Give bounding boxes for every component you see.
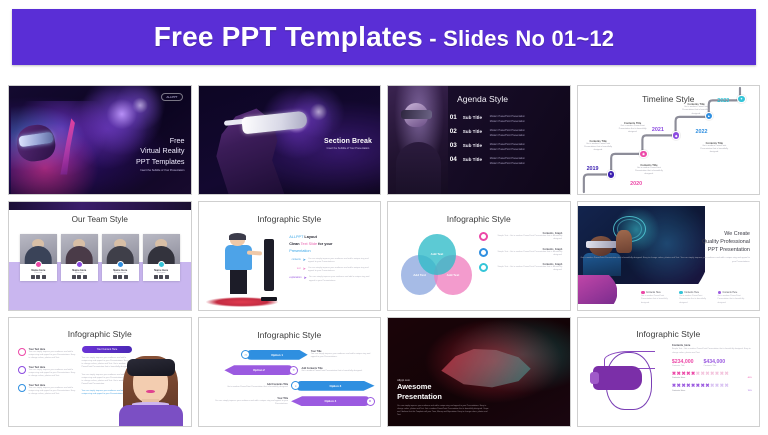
gear-icon: ⚙ <box>366 397 375 406</box>
page-title: Free PPT Templates - Slides No 01~12 <box>154 21 615 53</box>
left-item: Your Text Here You can simply impress yo… <box>18 348 76 360</box>
team-card[interactable]: Name Here Manager <box>61 234 98 281</box>
hero-paragraph: Get a modern PowerPoint Presentation tha… <box>578 257 750 264</box>
legend-desc: Simple Text - Get a modern PowerPoint Pr… <box>491 235 563 241</box>
legend-ring-icon <box>479 263 488 272</box>
pink-accent-shape <box>578 275 618 303</box>
agenda-row: 03 Sub Title Modern PowerPoint Presentat… <box>450 142 565 152</box>
member-photo <box>20 234 57 264</box>
column-desc: Get a modern PowerPoint Presentation tha… <box>679 295 713 304</box>
venn-title: Infographic Style <box>388 214 570 224</box>
member-badge-icon <box>117 261 124 268</box>
headline-text-slide: Text Slide <box>301 242 317 246</box>
agenda-row: 01 Sub Title Modern PowerPoint Presentat… <box>450 114 565 124</box>
rocket-icon: ✈ <box>289 366 298 375</box>
bar-pct: 40% <box>748 377 752 379</box>
column-desc: Get a modern PowerPoint Presentation tha… <box>718 295 752 304</box>
ring-icon <box>18 366 26 374</box>
headline: ALLPPT Layout Clean Text Slide for your … <box>289 234 371 254</box>
twitter-icon[interactable] <box>159 275 163 279</box>
legend-row: Contents_Graph Simple Text - Get a moder… <box>479 232 563 241</box>
team-cards: Name Here Director Name Here Manager <box>20 234 180 281</box>
timeline-block-2022: Contents Title Get a modern PowerPoint P… <box>697 142 731 154</box>
cover-title-line3: PPT Templates <box>136 157 184 167</box>
chevron-rows: ▭ Option 1 Your Title You can simply imp… <box>204 348 375 410</box>
slide-thumbnail-03[interactable]: Agenda Style 01 Sub Title Modern PowerPo… <box>387 85 571 195</box>
legend-row: Contents_Graph Simple Text - Get a moder… <box>479 263 563 272</box>
infographic-item: text ➤ You can simply impress your audie… <box>289 267 371 273</box>
stat: $434,000 Contents Title <box>704 359 726 367</box>
item-label: explanation <box>289 276 301 279</box>
agenda-bullet: Modern PowerPoint Presentation <box>490 119 525 124</box>
legend-desc: Simple Text - Get a modern PowerPoint Pr… <box>491 266 563 272</box>
agenda-list: 01 Sub Title Modern PowerPoint Presentat… <box>450 114 565 171</box>
linkedin-icon[interactable] <box>165 275 169 279</box>
item-desc: You can simply impress your audience and… <box>29 351 77 360</box>
stat-value: $434,000 <box>704 359 726 365</box>
infographic-text-block: ALLPPT Layout Clean Text Slide for your … <box>289 234 371 282</box>
timeline-node-2023: ✦ <box>737 95 746 104</box>
timeline-year-2020: 2020 <box>630 181 642 187</box>
twitter-icon[interactable] <box>118 275 122 279</box>
slide-thumbnail-05[interactable]: Our Team Style Name Here Director Name H… <box>8 201 192 311</box>
member-role: Director <box>20 272 57 274</box>
hero-title-line1: We Create <box>578 230 750 238</box>
left-item: Your Text Here You can simply impress yo… <box>18 366 76 378</box>
facebook-icon[interactable] <box>113 275 117 279</box>
slide-thumbnail-02[interactable]: Section Break Insert the Subtitle of You… <box>198 85 382 195</box>
timeline-block-2019: Contents Title Get a modern PowerPoint P… <box>581 140 615 152</box>
chevron-row: Option 2 ✈ Add Contents Title Get a mode… <box>204 364 375 377</box>
hero-text-block: We Create Quality Professional PPT Prese… <box>578 230 750 264</box>
agenda-row: 04 Sub Title Modern PowerPoint Presentat… <box>450 156 565 166</box>
member-role: Manager <box>61 272 98 274</box>
agenda-bullet: Modern PowerPoint Presentation <box>490 114 525 119</box>
linkedin-icon[interactable] <box>83 275 87 279</box>
screen-panel <box>264 239 274 291</box>
timeline-desc: Get a modern PowerPoint Presentation tha… <box>632 167 666 176</box>
infographic-title: Infographic Style <box>9 329 191 339</box>
member-badge-icon <box>76 261 83 268</box>
content-desc: Simple Text - Get a modern PowerPoint Pr… <box>672 348 752 354</box>
screen-stand <box>261 297 277 301</box>
section-break-block: Section Break Insert the Subtitle of You… <box>324 138 372 150</box>
awesome-text-block: Allppt.com Awesome Presentation You can … <box>397 378 489 417</box>
stat-label: Contents Title <box>704 365 726 367</box>
hero-title-line2: Quality Professional <box>578 238 750 246</box>
person-hair <box>229 233 246 240</box>
slide-thumbnail-06[interactable]: Infographic Style ALLPPT Layout Clean <box>198 201 382 311</box>
legend-ring-icon <box>479 248 488 257</box>
banner-sub-text: - Slides No 01~12 <box>423 26 614 51</box>
social-icons[interactable] <box>20 275 57 279</box>
person-body <box>225 245 252 269</box>
agenda-number: 04 <box>450 156 463 163</box>
team-card[interactable]: Name Here Designer <box>143 234 180 281</box>
agenda-subtitle: Sub Title <box>463 128 490 134</box>
chevron-label: Option 1 <box>246 353 307 357</box>
social-icons[interactable] <box>102 275 139 279</box>
lens <box>590 372 600 384</box>
bar-track: ✖✖✖✖✖ ✖✖✖✖✖ ✖✖ <box>672 371 752 377</box>
slide-thumbnail-10[interactable]: Infographic Style ▭ Option 1 Your Title … <box>198 317 382 427</box>
timeline-node-2019: ★ <box>607 170 616 179</box>
slide-thumbnail-01[interactable]: ALLPPT Free Virtual Reality PPT Template… <box>8 85 192 195</box>
headline-clean: Clean <box>289 242 299 246</box>
stat: $234,000 Contents Title <box>672 359 694 367</box>
cover-title-line1: Free <box>136 136 184 146</box>
chevron-label: Option 3 <box>296 384 374 388</box>
vr-headset-icon <box>593 366 643 389</box>
timeline-desc: Get a modern PowerPoint Presentation tha… <box>679 106 713 115</box>
progress-bar-1: ✖✖✖✖✖ ✖✖✖✖✖ ✖✖ Contents Here 40% <box>672 371 752 380</box>
item-desc: You can simply impress your audience and… <box>29 387 77 396</box>
torso <box>119 405 183 426</box>
person-arm <box>247 250 262 255</box>
timeline-year-2022: 2022 <box>695 129 707 135</box>
linkedin-icon[interactable] <box>42 275 46 279</box>
progress-bar-2: ✖✖✖✖✖ ✖✖✖ ✖✖✖✖ Contents Here 70% <box>672 383 752 392</box>
hero-column: Contents Here Get a modern PowerPoint Pr… <box>679 291 713 305</box>
slides-grid: ALLPPT Free Virtual Reality PPT Template… <box>8 85 760 427</box>
item-desc: You can simply impress your audience and… <box>308 258 371 264</box>
woman-vr-illustration <box>114 350 187 426</box>
stat-value: $234,000 <box>672 359 694 365</box>
timeline-node-2020: ◉ <box>639 150 648 159</box>
chevron-shape: Option 1 <box>246 350 307 360</box>
arrow-icon: ➤ <box>303 258 306 262</box>
column-desc: Get a modern PowerPoint Presentation tha… <box>641 295 675 304</box>
facebook-icon[interactable] <box>72 275 76 279</box>
side-desc: Get a modern PowerPoint Presentation tha… <box>301 370 371 373</box>
member-photo <box>102 234 139 264</box>
item-desc: You can simply impress your audience and… <box>309 276 371 282</box>
top-photo-strip <box>9 202 191 210</box>
agenda-number: 02 <box>450 128 463 135</box>
venn-circle-top: Add Text <box>418 234 456 274</box>
awesome-paragraph: You can simply impress your audience and… <box>397 405 489 418</box>
agenda-bullet: Modern PowerPoint Presentation <box>490 161 525 166</box>
section-break-title: Section Break <box>324 138 372 145</box>
bar-track: ✖✖✖✖✖ ✖✖✖ ✖✖✖✖ <box>672 383 752 389</box>
facebook-icon[interactable] <box>154 275 158 279</box>
venn-diagram: Add Text Add Text Add Text <box>401 234 474 299</box>
timeline-year-2023: 2023 <box>717 98 729 104</box>
chevron-label: Option 2 <box>224 368 293 372</box>
slide-thumbnail-04[interactable]: Timeline Style ★ ◉ ◆ ▲ ✦ 2019 2020 2021 … <box>577 85 761 195</box>
agenda-bullet: Modern PowerPoint Presentation <box>490 128 525 133</box>
team-card[interactable]: Name Here Director <box>20 234 57 281</box>
legend-ring-icon <box>479 232 488 241</box>
left-item: Your Text Here You can simply impress yo… <box>18 384 76 396</box>
infographic-item: contents ➤ You can simply impress your a… <box>289 258 371 264</box>
ring-icon <box>18 384 26 392</box>
photo-body <box>396 142 440 194</box>
bullet-dot-icon <box>718 291 722 295</box>
agenda-bullet: Modern PowerPoint Presentation <box>490 147 525 152</box>
person-illustration <box>218 234 262 292</box>
infographic-title: Infographic Style <box>578 329 760 339</box>
chevron-row: Your Title You can simply impress your a… <box>204 395 375 408</box>
twitter-icon[interactable] <box>36 275 40 279</box>
vr-headset-icon <box>127 359 175 376</box>
timeline-year-2019: 2019 <box>587 166 599 172</box>
stat-values: $234,000 Contents Title $434,000 Content… <box>672 359 752 367</box>
timeline-desc: Get a modern PowerPoint Presentation tha… <box>616 125 650 134</box>
awesome-title-line2: Presentation <box>397 392 489 402</box>
chevron-row: Add Contents Title Get a modern PowerPoi… <box>204 379 375 392</box>
thumbnail-gallery-page: Free PPT Templates - Slides No 01~12 ALL… <box>0 0 768 435</box>
chevron-shape: Option 4 <box>291 396 369 406</box>
chevron-side-text: Add Contents Title Get a modern PowerPoi… <box>204 383 291 389</box>
side-desc: You can simply impress your audience and… <box>311 353 372 359</box>
cover-subtitle: Insert the Subtitle of Your Presentation <box>136 169 184 172</box>
vr-headset-illustration <box>587 348 667 417</box>
agenda-row: 02 Sub Title Modern PowerPoint Presentat… <box>450 128 565 138</box>
timeline-block-2021: Contents Title Get a modern PowerPoint P… <box>616 122 650 134</box>
arrow-icon: ➤ <box>303 276 306 280</box>
social-icons[interactable] <box>61 275 98 279</box>
legend-desc: Simple Text - Get a modern PowerPoint Pr… <box>491 251 563 257</box>
chevron-shape: Option 2 <box>224 365 293 375</box>
side-desc: Get a modern PowerPoint Presentation tha… <box>207 386 288 389</box>
left-items: Your Text Here You can simply impress yo… <box>18 348 76 401</box>
chevron-row: ▭ Option 1 Your Title You can simply imp… <box>204 348 375 361</box>
member-role: Designer <box>143 272 180 274</box>
timeline-block-2023: Contents Title Get a modern PowerPoint P… <box>679 103 713 115</box>
cover-title-line2: Virtual Reality <box>136 146 184 156</box>
page-banner: Free PPT Templates - Slides No 01~12 <box>12 9 756 65</box>
chevron-side-text: Your Title You can simply impress your a… <box>204 397 291 406</box>
member-role: Programmer <box>102 272 139 274</box>
stats-panel: Contents_Here Simple Text - Get a modern… <box>672 344 752 392</box>
slide-thumbnail-11[interactable]: Allppt.com Awesome Presentation You can … <box>387 317 571 427</box>
agenda-bullet: Modern PowerPoint Presentation <box>490 133 525 138</box>
column-title: Contents Here <box>723 292 738 294</box>
agenda-number: 03 <box>450 142 463 149</box>
stat-label: Contents Title <box>672 365 694 367</box>
member-badge-icon <box>35 261 42 268</box>
allppt-logo: ALLPPT <box>161 93 182 101</box>
headline-presentation: Presentation <box>289 249 310 253</box>
infographic-title: Infographic Style <box>199 214 381 224</box>
twitter-icon[interactable] <box>77 275 81 279</box>
agenda-bullet: Modern PowerPoint Presentation <box>490 142 525 147</box>
slide-thumbnail-09[interactable]: Infographic Style Your Text Here You can… <box>8 317 192 427</box>
team-title: Our Team Style <box>9 215 191 224</box>
headline-layout: Layout <box>304 235 316 239</box>
headline-allppt: ALLPPT <box>289 235 303 239</box>
linkedin-icon[interactable] <box>124 275 128 279</box>
hero-column: Contents Here Get a modern PowerPoint Pr… <box>718 291 752 305</box>
slide-thumbnail-08[interactable]: We Create Quality Professional PPT Prese… <box>577 201 761 311</box>
member-badge-icon <box>158 261 165 268</box>
agenda-title: Agenda Style <box>457 94 508 104</box>
content-title: Contents_Here <box>672 344 752 347</box>
chevron-label: Option 4 <box>291 399 369 403</box>
chevron-side-text: Add Contents Title Get a modern PowerPoi… <box>298 367 374 373</box>
infographic-title: Infographic Style <box>199 330 381 340</box>
person-legs <box>230 268 247 294</box>
agenda-number: 01 <box>450 114 463 121</box>
item-label: contents <box>289 258 300 261</box>
agenda-bullet: Modern PowerPoint Presentation <box>490 156 525 161</box>
legend-row: Contents_Graph Simple Text - Get a moder… <box>479 248 563 257</box>
bar-pct: 70% <box>748 390 752 392</box>
agenda-photo <box>388 86 448 194</box>
arrow-icon: ➤ <box>303 267 306 271</box>
item-desc: You can simply impress your audience and… <box>29 369 77 378</box>
chevron-side-text: Your Title You can simply impress your a… <box>308 350 375 359</box>
bullet-dot-icon <box>679 291 683 295</box>
facebook-icon[interactable] <box>31 275 35 279</box>
headline-for-your: for your <box>318 242 332 246</box>
column-title: Contents Here <box>684 292 699 294</box>
timeline-desc: Get a modern PowerPoint Presentation tha… <box>697 145 731 154</box>
member-photo <box>61 234 98 264</box>
section-break-subtitle: Insert the Subtitle of Your Presentation <box>324 147 372 150</box>
photo-vr-headset-icon <box>401 110 432 120</box>
team-card[interactable]: Name Here Programmer <box>102 234 139 281</box>
timeline-desc: Get a modern PowerPoint Presentation tha… <box>581 143 615 152</box>
timeline-year-2021: 2021 <box>652 127 664 133</box>
social-icons[interactable] <box>143 275 180 279</box>
agenda-subtitle: Sub Title <box>463 142 490 148</box>
hero-column: Contents Here Get a modern PowerPoint Pr… <box>641 291 675 305</box>
item-label: text <box>289 267 300 270</box>
side-desc: You can simply impress your audience and… <box>207 400 288 406</box>
venn-legend: Contents_Graph Simple Text - Get a moder… <box>479 232 563 278</box>
member-photo <box>143 234 180 264</box>
bar-label: Contents Here <box>672 390 685 392</box>
slide-thumbnail-12[interactable]: Infographic Style Contents_Here Simple T… <box>577 317 761 427</box>
slide-thumbnail-07[interactable]: Infographic Style Add Text Add Text Add … <box>387 201 571 311</box>
item-desc: You can simply impress your audience and… <box>308 267 371 273</box>
hero-title-line3: PPT Presentation <box>578 246 750 254</box>
bar-label: Contents Here <box>672 377 685 379</box>
timeline-block-2020: Contents Title Get a modern PowerPoint P… <box>632 164 666 176</box>
infographic-item: explanation ➤ You can simply impress you… <box>289 276 371 282</box>
agenda-subtitle: Sub Title <box>463 114 490 120</box>
column-title: Contents Here <box>646 292 661 294</box>
banner-main-text: Free PPT Templates <box>154 21 423 52</box>
hero-columns: Contents Here Get a modern PowerPoint Pr… <box>641 291 752 305</box>
bullet-dot-icon <box>641 291 645 295</box>
ring-icon <box>18 348 26 356</box>
chevron-shape: Option 3 <box>296 381 374 391</box>
agenda-subtitle: Sub Title <box>463 156 490 162</box>
cover-title-block: Free Virtual Reality PPT Templates Inser… <box>136 136 184 172</box>
awesome-title-line1: Awesome <box>397 382 489 392</box>
